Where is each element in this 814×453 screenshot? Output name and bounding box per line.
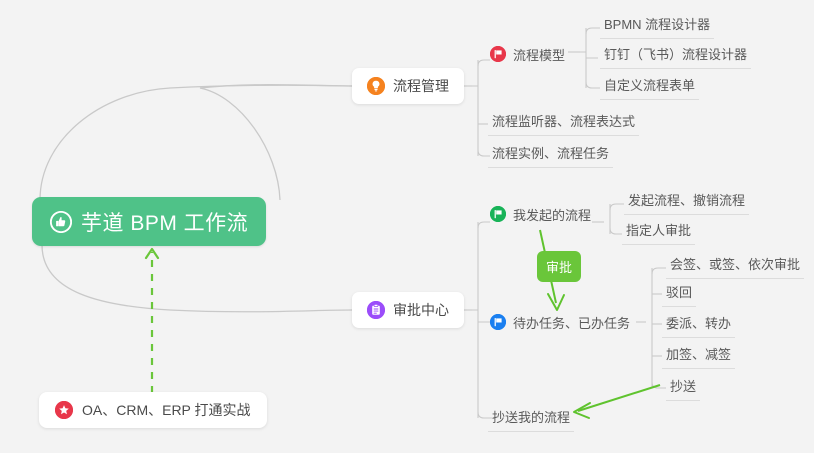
wire-model-to-dingtalk — [580, 52, 598, 58]
wire-root-to-process-management — [200, 85, 352, 200]
leaf-bpmn-designer[interactable]: BPMN 流程设计器 — [600, 12, 714, 39]
clipboard-icon — [367, 301, 385, 319]
note-card-label: OA、CRM、ERP 打通实战 — [82, 400, 251, 420]
lightbulb-icon — [367, 77, 385, 95]
wire-ac-to-todo — [472, 310, 490, 322]
leaf-custom-process-form[interactable]: 自定义流程表单 — [600, 73, 699, 100]
leaf-label-add-remove-sign: 加签、减签 — [666, 347, 731, 362]
flag-icon — [490, 46, 506, 62]
leaf-cc[interactable]: 抄送 — [666, 374, 700, 401]
approve-callout-label: 审批 — [546, 260, 572, 275]
wire-model-to-bpmn — [586, 28, 600, 34]
leaf-cc-to-me-process[interactable]: 抄送我的流程 — [488, 405, 574, 432]
leaf-process-listener-expression[interactable]: 流程监听器、流程表达式 — [488, 109, 639, 136]
leaf-label-cc-to-me-process: 抄送我的流程 — [492, 410, 570, 425]
node-label-process-model: 流程模型 — [513, 45, 565, 64]
leaf-label-dingtalk-feishu-designer: 钉钉（飞书）流程设计器 — [604, 47, 747, 62]
leaf-label-start-cancel-process: 发起流程、撤销流程 — [628, 193, 745, 208]
star-icon — [55, 401, 73, 419]
leaf-dingtalk-feishu-designer[interactable]: 钉钉（飞书）流程设计器 — [600, 42, 751, 69]
leaf-label-custom-process-form: 自定义流程表单 — [604, 78, 695, 93]
annotation-dashed-arrowhead — [146, 249, 158, 258]
annotation-cc-arrow-line — [578, 385, 660, 411]
flag-icon — [490, 206, 506, 222]
leaf-process-instance-task[interactable]: 流程实例、流程任务 — [488, 141, 613, 168]
annotation-cc-arrowhead — [574, 403, 590, 418]
wire-root-to-process-management-main — [40, 85, 352, 200]
leaf-label-delegate-transfer: 委派、转办 — [666, 316, 731, 331]
leaf-label-bpmn-designer: BPMN 流程设计器 — [604, 17, 710, 32]
node-label-todo-done-tasks: 待办任务、已办任务 — [513, 313, 630, 332]
annotation-approve-arrowhead — [548, 294, 564, 310]
node-label-my-initiated-process: 我发起的流程 — [513, 205, 591, 224]
wire-pm-to-process-model — [472, 60, 490, 86]
wire-ac-to-initiated — [478, 222, 490, 228]
wire-todo-to-countersign — [652, 268, 666, 274]
leaf-countersign-or-sequential[interactable]: 会签、或签、依次审批 — [666, 252, 804, 279]
leaf-label-process-instance-task: 流程实例、流程任务 — [492, 146, 609, 161]
branch-card-process-management[interactable]: 流程管理 — [352, 68, 464, 104]
branch-label-approval-center: 审批中心 — [393, 300, 449, 320]
leaf-assigned-approval[interactable]: 指定人审批 — [622, 218, 695, 245]
wire-init-to-start — [610, 204, 624, 210]
branch-label-process-management: 流程管理 — [393, 76, 449, 96]
wire-root-to-approval-center — [42, 245, 352, 312]
leaf-label-countersign-or-sequential: 会签、或签、依次审批 — [670, 257, 800, 272]
root-node[interactable]: 芋道 BPM 工作流 — [32, 197, 266, 246]
thumbs-up-icon — [50, 211, 72, 233]
leaf-label-cc: 抄送 — [670, 379, 696, 394]
leaf-start-cancel-process[interactable]: 发起流程、撤销流程 — [624, 188, 749, 215]
wire-model-to-customform — [586, 82, 600, 88]
leaf-add-remove-sign[interactable]: 加签、减签 — [662, 342, 735, 369]
leaf-label-reject: 驳回 — [666, 285, 692, 300]
leaf-label-assigned-approval: 指定人审批 — [626, 223, 691, 238]
leaf-label-process-listener-expression: 流程监听器、流程表达式 — [492, 114, 635, 129]
leaf-delegate-transfer[interactable]: 委派、转办 — [662, 311, 735, 338]
node-my-initiated-process[interactable]: 我发起的流程 — [490, 202, 591, 226]
node-process-model[interactable]: 流程模型 — [490, 42, 565, 66]
branch-card-approval-center[interactable]: 审批中心 — [352, 292, 464, 328]
leaf-reject[interactable]: 驳回 — [662, 280, 696, 307]
note-card-integration-practice[interactable]: OA、CRM、ERP 打通实战 — [39, 392, 267, 428]
flag-icon — [490, 314, 506, 330]
wire-init-to-assigned — [610, 228, 622, 234]
mindmap-canvas: 芋道 BPM 工作流 流程管理 流程模型 BPMN 流程设计器 钉钉（飞书）流程… — [0, 0, 814, 453]
root-label: 芋道 BPM 工作流 — [81, 207, 248, 237]
node-todo-done-tasks[interactable]: 待办任务、已办任务 — [490, 310, 630, 334]
approve-callout-badge[interactable]: 审批 — [537, 251, 581, 282]
wire-todo-to-cc — [652, 382, 666, 388]
